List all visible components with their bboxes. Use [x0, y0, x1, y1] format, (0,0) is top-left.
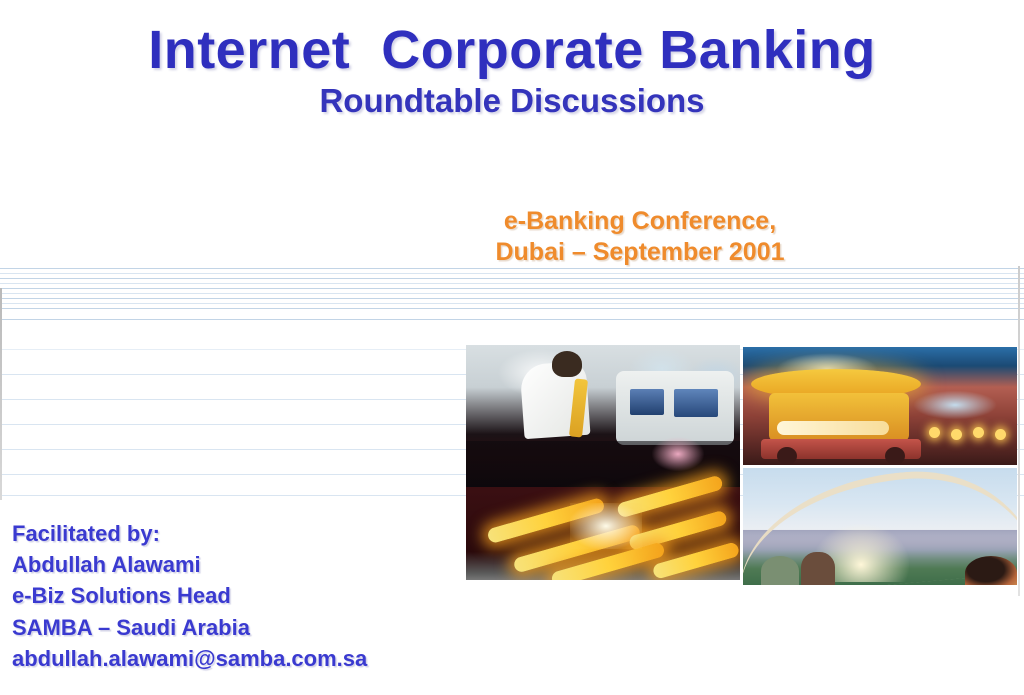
facilitator-organization: SAMBA – Saudi Arabia — [12, 612, 367, 643]
facilitator-info: Facilitated by: Abdullah Alawami e-Biz S… — [12, 518, 367, 674]
glow-bar-shape — [628, 510, 728, 552]
rock-shape — [801, 552, 835, 585]
rule-line — [0, 278, 1024, 279]
facilitator-email: abdullah.alawami@samba.com.sa — [12, 643, 367, 674]
left-edge-rule — [0, 288, 2, 500]
title-block: Internet Corporate Banking Roundtable Di… — [0, 22, 1024, 120]
rock-shape — [761, 556, 799, 585]
rule-line — [0, 303, 1024, 304]
page-title: Internet Corporate Banking — [0, 22, 1024, 79]
wheel-shape — [885, 447, 905, 465]
conference-location-date: Dubai – September 2001 — [330, 237, 950, 268]
rule-line — [0, 283, 1024, 284]
rule-line — [0, 268, 1024, 269]
pink-highlight-shape — [652, 437, 704, 471]
vehicle-stripe-shape — [777, 421, 889, 435]
screen-shape — [674, 389, 718, 417]
person-head-shape — [552, 351, 582, 377]
presentation-slide: Internet Corporate Banking Roundtable Di… — [0, 0, 1024, 695]
center-glow-shape — [570, 503, 642, 549]
page-subtitle: Roundtable Discussions — [0, 83, 1024, 119]
rule-line — [0, 319, 1024, 320]
screen-shape — [630, 389, 664, 415]
glow-bar-shape — [652, 541, 740, 580]
right-edge-rule — [1018, 266, 1020, 596]
rule-line — [0, 273, 1024, 274]
light-dot-shape — [995, 429, 1006, 440]
light-dot-shape — [929, 427, 940, 438]
wheel-shape — [777, 447, 797, 465]
office-banking-photo — [466, 345, 740, 580]
facilitator-label: Facilitated by: — [12, 518, 367, 549]
landscape-photo — [743, 468, 1017, 585]
facilitator-name: Abdullah Alawami — [12, 549, 367, 580]
light-dot-shape — [973, 427, 984, 438]
light-dot-shape — [951, 429, 962, 440]
conference-name: e-Banking Conference, — [330, 206, 950, 237]
photo-collage — [466, 345, 1017, 583]
rule-line — [0, 288, 1024, 289]
rule-line — [0, 298, 1024, 299]
conference-info: e-Banking Conference, Dubai – September … — [330, 206, 950, 267]
rule-line — [0, 293, 1024, 294]
foreground-figure-shape — [965, 556, 1017, 585]
neon-night-photo — [743, 347, 1017, 465]
facilitator-role: e-Biz Solutions Head — [12, 580, 367, 611]
rule-line — [0, 308, 1024, 309]
